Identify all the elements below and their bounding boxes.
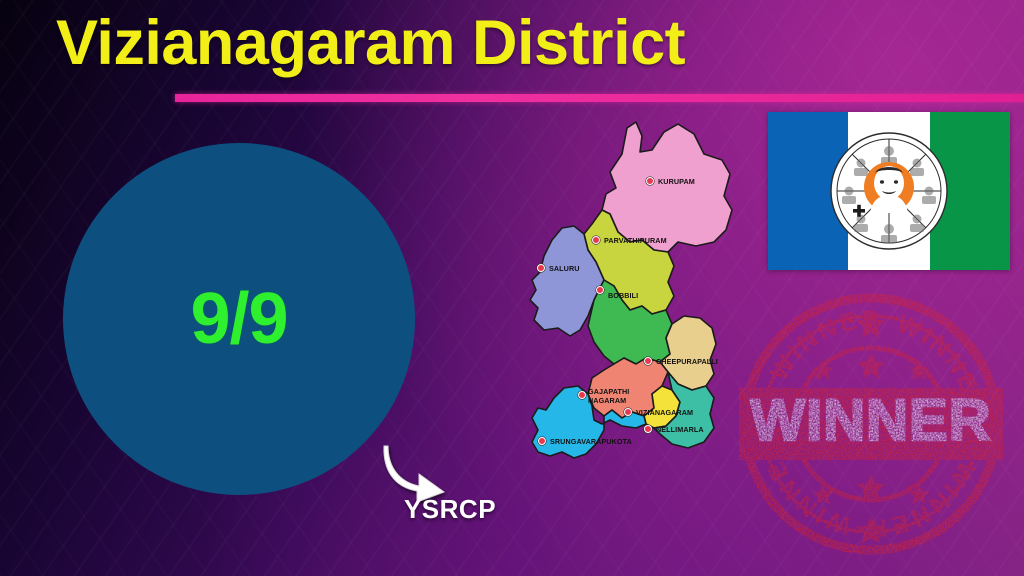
map-marker-saluru	[537, 264, 545, 272]
map-label-saluru: SALURU	[549, 265, 580, 274]
seat-count-label: 9/9	[190, 278, 287, 360]
map-marker-gajapathinagaram	[578, 391, 586, 399]
district-map: KURUPAMPARVATHIPURAMSALURUBOBBILICHEEPUR…	[518, 110, 758, 470]
map-marker-kurupam	[646, 177, 654, 185]
map-label-gajapathinagaram: GAJAPATHINAGARAM	[588, 388, 629, 405]
map-label-vizianagaram: VIZIANAGARAM	[636, 409, 693, 418]
flag-stripe-white	[848, 112, 930, 270]
map-marker-nellimarla	[644, 425, 652, 433]
map-label-nellimarla: NELLIMARLA	[656, 426, 704, 435]
slide-canvas: Vizianagaram District 9/9 YSRCP	[0, 0, 1024, 576]
map-marker-srungavarapukota	[538, 437, 546, 445]
winner-stamp: WINNER WINNER WINNER WINNER	[735, 288, 1007, 560]
map-label-bobbili: BOBBILI	[608, 292, 638, 301]
map-label-srungavarapukota: SRUNGAVARAPUKOTA	[550, 438, 632, 447]
page-title: Vizianagaram District	[56, 6, 685, 80]
map-marker-parvathipuram	[592, 236, 600, 244]
map-label-parvathipuram: PARVATHIPURAM	[604, 237, 667, 246]
ysrcp-party-flag	[768, 112, 1010, 270]
seat-result-circle: 9/9	[63, 143, 415, 495]
party-name-label: YSRCP	[390, 494, 510, 525]
ysrcp-emblem-icon	[823, 125, 955, 257]
map-marker-vizianagaram	[624, 408, 632, 416]
map-label-cheepurapalli: CHEEPURAPALLI	[656, 358, 718, 367]
map-region-kurupam	[602, 122, 732, 252]
stamp-center-text: WINNER	[750, 388, 991, 453]
title-divider	[175, 94, 1024, 102]
map-label-kurupam: KURUPAM	[658, 178, 695, 187]
map-marker-cheepurapalli	[644, 357, 652, 365]
map-marker-bobbili	[596, 286, 604, 294]
